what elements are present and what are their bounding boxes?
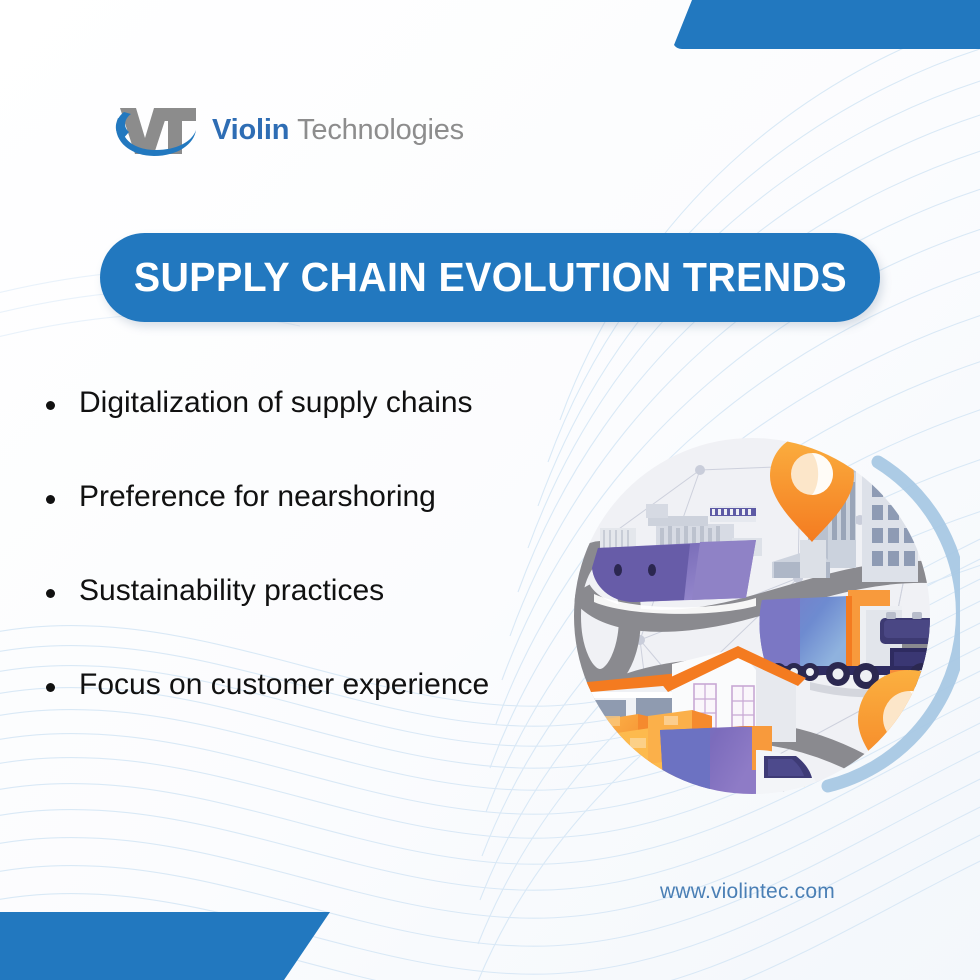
bullet-dot-icon [46, 589, 55, 598]
list-item: Digitalization of supply chains [46, 385, 646, 479]
list-item: Sustainability practices [46, 573, 646, 667]
brand-name: Violin Technologies [212, 116, 464, 145]
bullet-label: Sustainability practices [79, 573, 384, 608]
bullet-label: Focus on customer experience [79, 667, 489, 702]
brand-name-part2: Technologies [297, 114, 464, 146]
bullet-dot-icon [46, 683, 55, 692]
top-right-banner-shape [670, 0, 980, 49]
page-title: SUPPLY CHAIN EVOLUTION TRENDS [133, 254, 846, 301]
brand-name-part1: Violin [212, 114, 289, 146]
bottom-left-banner-shape [0, 912, 330, 980]
list-item: Preference for nearshoring [46, 479, 646, 573]
bullet-label: Preference for nearshoring [79, 479, 436, 514]
poster-canvas: Violin Technologies SUPPLY CHAIN EVOLUTI… [0, 0, 980, 980]
bullet-dot-icon [46, 495, 55, 504]
supply-chain-logistics-illustration [560, 420, 960, 820]
page-title-pill: SUPPLY CHAIN EVOLUTION TRENDS [100, 233, 880, 322]
bullet-dot-icon [46, 401, 55, 410]
bullet-label: Digitalization of supply chains [79, 385, 473, 420]
vt-monogram-swoosh-icon [112, 98, 198, 162]
list-item: Focus on customer experience [46, 667, 646, 761]
trend-bullet-list: Digitalization of supply chains Preferen… [46, 385, 646, 761]
website-url[interactable]: www.violintec.com [660, 880, 920, 904]
brand-logo[interactable]: Violin Technologies [112, 96, 462, 164]
